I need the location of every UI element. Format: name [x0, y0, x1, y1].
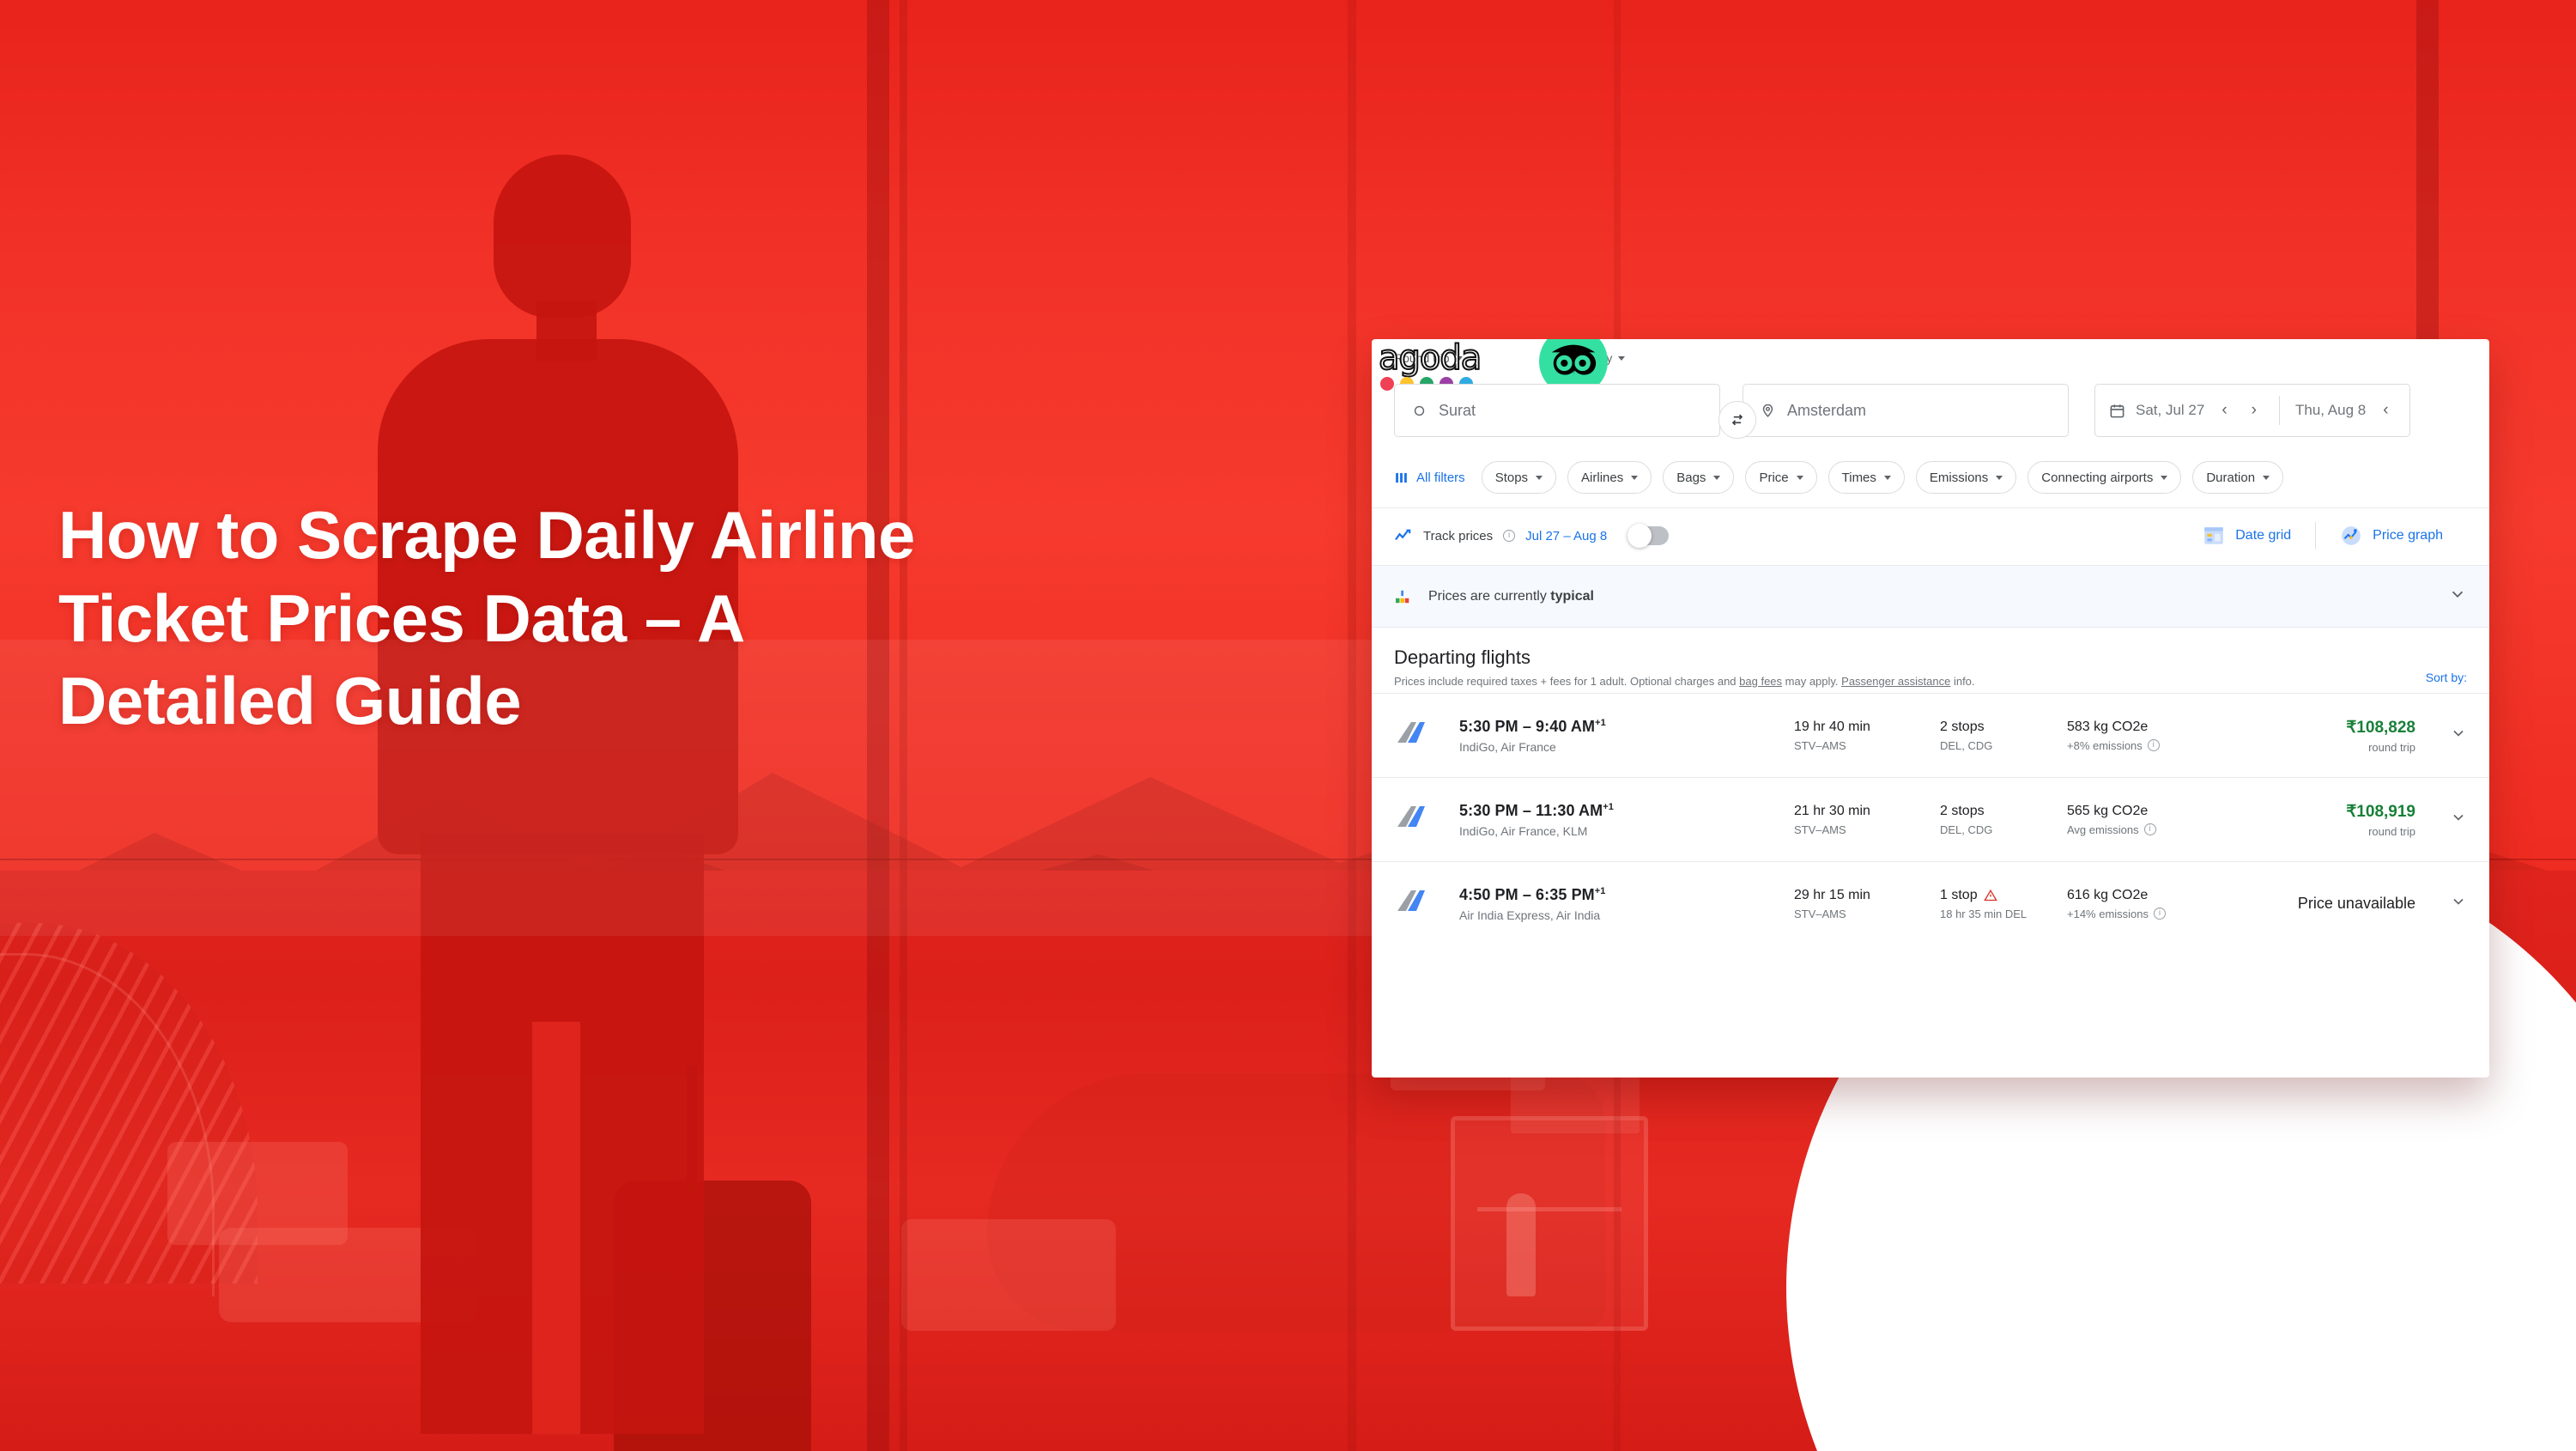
location-pin-icon	[1936, 1395, 1992, 1451]
insight-prefix: Prices are currently	[1428, 589, 1550, 604]
flight-times: 5:30 PM – 9:40 AM+1 IndiGo, Air France	[1459, 718, 1794, 754]
info-icon[interactable]: i	[1503, 530, 1515, 542]
co2-value: 583 kg CO2e	[2067, 719, 2247, 735]
stops-value: 2 stops	[1940, 804, 1985, 818]
expand-row-chevron-down-icon[interactable]	[2445, 893, 2467, 914]
flight-times: 4:50 PM – 6:35 PM+1 Air India Express, A…	[1459, 886, 1794, 922]
chevron-down-icon	[1884, 476, 1891, 480]
chevron-down-icon	[1713, 476, 1720, 480]
page-title: How to Scrape Daily Airline Ticket Price…	[58, 494, 1329, 743]
departing-flights-note: Prices include required taxes + fees for…	[1394, 675, 2467, 688]
filter-chip-bar: All filters Stops Airlines Bags Price Ti…	[1372, 451, 2489, 508]
times-value: 5:30 PM – 9:40 AM	[1459, 718, 1595, 735]
price-graph-icon	[2340, 525, 2362, 547]
airlines-value: IndiGo, Air France, KLM	[1459, 824, 1794, 838]
airlines-value: IndiGo, Air France	[1459, 740, 1794, 754]
flight-row[interactable]: 4:50 PM – 6:35 PM+1 Air India Express, A…	[1372, 861, 2489, 945]
chip-label: Duration	[2206, 471, 2255, 485]
trend-line-icon	[1394, 528, 1413, 543]
swap-button[interactable]	[1718, 401, 1756, 439]
passenger-assistance-link[interactable]: Passenger assistance	[1841, 675, 1950, 688]
date-grid-label: Date grid	[2235, 528, 2291, 543]
ground-crew-silhouette	[1506, 1193, 1536, 1296]
route-value: STV–AMS	[1794, 823, 1940, 836]
times-value: 5:30 PM – 11:30 AM	[1459, 802, 1603, 819]
price-bars-icon	[1394, 589, 1413, 604]
times-value: 4:50 PM – 6:35 PM	[1459, 886, 1595, 903]
departing-flights-header: Departing flights Prices include require…	[1372, 628, 2489, 693]
depart-prev-button[interactable]: ‹	[2215, 401, 2234, 420]
flights-topbar: Round trip Economy agoda	[1372, 339, 2489, 384]
stops-value: 1 stop	[1940, 888, 1978, 903]
price-value: Price unavailable	[2247, 895, 2415, 914]
price-note: round trip	[2247, 825, 2415, 838]
filter-chip-airlines[interactable]: Airlines	[1567, 461, 1652, 494]
stops-detail: 18 hr 35 min DEL	[1940, 908, 2067, 920]
flight-stops: 2 stops DEL, CDG	[1940, 719, 2067, 752]
flight-emissions: 583 kg CO2e +8% emissionsi	[2067, 719, 2247, 752]
flight-price: Price unavailable	[2247, 895, 2445, 914]
expand-row-chevron-down-icon[interactable]	[2445, 725, 2467, 746]
flight-search-row: Surat Amsterdam Sat, Jul 27 ‹ › Thu, Aug…	[1372, 384, 2489, 451]
destination-value: Amsterdam	[1787, 402, 1866, 420]
price-note: round trip	[2247, 741, 2415, 754]
flight-emissions: 565 kg CO2e Avg emissionsi	[2067, 804, 2247, 836]
filter-chip-stops[interactable]: Stops	[1482, 461, 1556, 494]
flight-times: 5:30 PM – 11:30 AM+1 IndiGo, Air France,…	[1459, 802, 1794, 838]
price-graph-label: Price graph	[2373, 528, 2443, 543]
return-date-value: Thu, Aug 8	[2295, 402, 2366, 419]
filter-chip-emissions[interactable]: Emissions	[1916, 461, 2016, 494]
chevron-down-icon	[1536, 476, 1543, 480]
stops-detail: DEL, CDG	[1940, 823, 2067, 836]
chip-label: Connecting airports	[2041, 471, 2153, 485]
title-line-3: Detailed Guide	[58, 659, 1329, 743]
stops-detail: DEL, CDG	[1940, 739, 2067, 752]
chip-label: Bags	[1676, 471, 1706, 485]
return-prev-button[interactable]: ‹	[2376, 401, 2395, 420]
chevron-down-icon	[1631, 476, 1638, 480]
price-graph-button[interactable]: Price graph	[2316, 525, 2467, 547]
bag-fees-link[interactable]: bag fees	[1739, 675, 1782, 688]
chip-label: Times	[1842, 471, 1876, 485]
divider	[2279, 396, 2280, 425]
flight-row[interactable]: 5:30 PM – 9:40 AM+1 IndiGo, Air France 1…	[1372, 693, 2489, 777]
stops-value: 2 stops	[1940, 719, 1985, 735]
co2-delta: Avg emissions	[2067, 823, 2139, 836]
duration-value: 21 hr 30 min	[1794, 804, 1940, 819]
location-pin-icon	[1761, 402, 1775, 420]
info-icon[interactable]: i	[2144, 823, 2156, 835]
flight-duration: 29 hr 15 min STV–AMS	[1794, 888, 1940, 920]
destination-input[interactable]: Amsterdam	[1743, 384, 2069, 437]
flight-duration: 21 hr 30 min STV–AMS	[1794, 804, 1940, 836]
expand-row-chevron-down-icon[interactable]	[2445, 809, 2467, 830]
date-grid-icon	[2203, 525, 2225, 547]
insight-emphasis: typical	[1550, 589, 1594, 604]
flight-price: ₹108,828 round trip	[2247, 718, 2445, 754]
chip-label: Airlines	[1581, 471, 1623, 485]
date-grid-button[interactable]: Date grid	[2179, 525, 2315, 547]
track-prices-row: Track prices i Jul 27 – Aug 8 Date grid	[1372, 508, 2489, 566]
depart-next-button[interactable]: ›	[2245, 401, 2264, 420]
chevron-down-icon	[1618, 356, 1625, 361]
info-icon[interactable]: i	[2148, 739, 2160, 751]
route-value: STV–AMS	[1794, 908, 1940, 920]
warning-triangle-icon	[1984, 889, 1997, 902]
day-offset: +1	[1595, 718, 1606, 728]
depart-date-value: Sat, Jul 27	[2136, 402, 2204, 419]
sort-by-button[interactable]: Sort by:	[2426, 671, 2467, 684]
duration-value: 19 hr 40 min	[1794, 719, 1940, 735]
flight-stops: 1 stop 18 hr 35 min DEL	[1940, 888, 2067, 920]
date-range-picker[interactable]: Sat, Jul 27 ‹ › Thu, Aug 8 ‹	[2094, 384, 2410, 437]
filter-chip-price[interactable]: Price	[1745, 461, 1816, 494]
price-insight-banner[interactable]: Prices are currently typical	[1372, 566, 2489, 628]
airline-logo-icon	[1394, 887, 1459, 920]
filter-chip-bags[interactable]: Bags	[1663, 461, 1734, 494]
all-filters-button[interactable]: All filters	[1394, 471, 1465, 485]
flight-price: ₹108,919 round trip	[2247, 802, 2445, 838]
filter-chip-duration[interactable]: Duration	[2192, 461, 2283, 494]
flight-row[interactable]: 5:30 PM – 11:30 AM+1 IndiGo, Air France,…	[1372, 777, 2489, 861]
airline-logo-icon	[1394, 719, 1459, 752]
swap-arrows-icon	[1729, 411, 1746, 428]
track-prices-label: Track prices	[1423, 529, 1493, 543]
airline-logo-icon	[1394, 803, 1459, 836]
note-part-3: info.	[1950, 675, 1974, 688]
co2-value: 616 kg CO2e	[2067, 888, 2247, 903]
circle-origin-icon	[1412, 404, 1427, 418]
chip-label: Emissions	[1930, 471, 1988, 485]
chevron-down-icon	[2263, 476, 2270, 480]
service-truck	[901, 1219, 1116, 1331]
flight-emissions: 616 kg CO2e +14% emissionsi	[2067, 888, 2247, 920]
chip-label: Price	[1759, 471, 1788, 485]
filter-chip-times[interactable]: Times	[1828, 461, 1905, 494]
airlines-value: Air India Express, Air India	[1459, 908, 1794, 922]
route-value: STV–AMS	[1794, 739, 1940, 752]
chevron-down-icon	[1996, 476, 2003, 480]
price-insight-text: Prices are currently typical	[1428, 589, 1594, 604]
origin-value: Surat	[1439, 402, 1476, 420]
flight-duration: 19 hr 40 min STV–AMS	[1794, 719, 1940, 752]
day-offset: +1	[1603, 802, 1614, 812]
chip-label: Stops	[1495, 471, 1528, 485]
google-flights-card: Round trip Economy agoda	[1372, 339, 2489, 1078]
all-filters-label: All filters	[1416, 471, 1465, 485]
price-value: ₹108,828	[2247, 718, 2415, 738]
title-line-2: Ticket Prices Data – A	[58, 577, 1329, 660]
agoda-wordmark: agoda	[1379, 341, 1537, 375]
chevron-down-icon	[2161, 476, 2167, 480]
price-value: ₹108,919	[2247, 802, 2415, 822]
track-prices-toggle[interactable]	[1627, 526, 1669, 545]
departing-flights-title: Departing flights	[1394, 647, 2467, 669]
co2-delta: +8% emissions	[2067, 739, 2143, 752]
filter-chip-connecting-airports[interactable]: Connecting airports	[2027, 461, 2181, 494]
note-part-1: Prices include required taxes + fees for…	[1394, 675, 1739, 688]
origin-input[interactable]: Surat	[1394, 384, 1720, 437]
flight-stops: 2 stops DEL, CDG	[1940, 804, 2067, 836]
track-date-range: Jul 27 – Aug 8	[1525, 529, 1607, 543]
calendar-icon	[2109, 403, 2125, 419]
chevron-down-icon	[1797, 476, 1803, 480]
chevron-down-icon[interactable]	[2448, 585, 2467, 608]
note-part-2: may apply.	[1782, 675, 1841, 688]
title-line-1: How to Scrape Daily Airline	[58, 494, 1329, 577]
agoda-logo: agoda	[1379, 341, 1537, 389]
duration-value: 29 hr 15 min	[1794, 888, 1940, 903]
day-offset: +1	[1595, 886, 1606, 896]
filter-icon	[1394, 471, 1409, 485]
co2-value: 565 kg CO2e	[2067, 804, 2247, 819]
co2-delta: +14% emissions	[2067, 908, 2149, 920]
info-icon[interactable]: i	[2154, 908, 2166, 920]
